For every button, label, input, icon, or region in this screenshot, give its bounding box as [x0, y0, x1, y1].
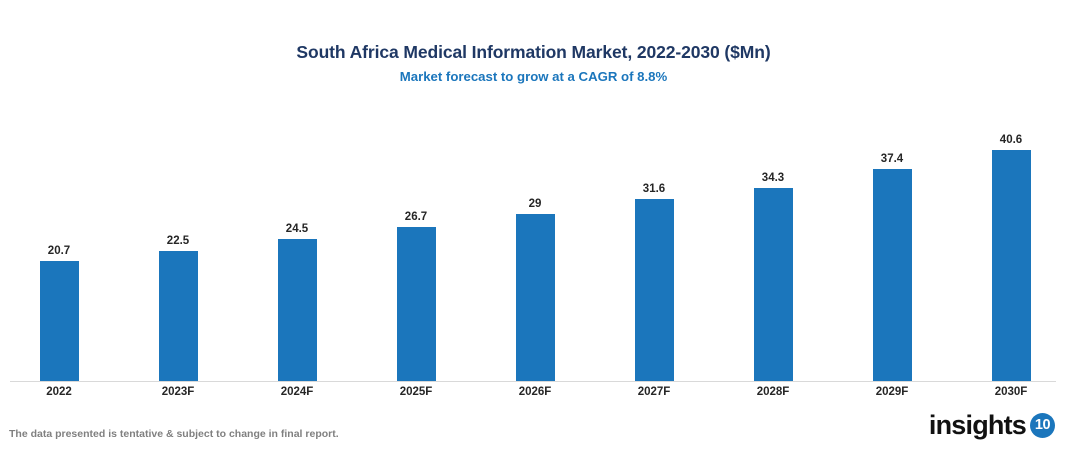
x-axis-tick-label: 2022: [9, 386, 109, 398]
bar-group: 29 2026F: [476, 0, 595, 454]
bar-value-label: 40.6: [971, 134, 1051, 146]
bar-value-label: 26.7: [376, 211, 456, 223]
bar-value-label: 24.5: [257, 223, 337, 235]
bar[interactable]: [397, 227, 436, 381]
x-axis-tick-label: 2026F: [485, 386, 585, 398]
x-axis-tick-label: 2024F: [247, 386, 347, 398]
bar[interactable]: [754, 188, 793, 381]
bar-value-label: 22.5: [138, 235, 218, 247]
chart-page: South Africa Medical Information Market,…: [0, 0, 1067, 454]
insights10-logo: insights 10: [929, 408, 1055, 442]
bar-group: 24.5 2024F: [238, 0, 357, 454]
x-axis-tick-label: 2027F: [604, 386, 704, 398]
bar-group: 22.5 2023F: [119, 0, 238, 454]
bar-chart-plot-area: 20.7 2022 22.5 2023F 24.5 2024F 26.7 202…: [0, 0, 1067, 454]
bar[interactable]: [516, 214, 555, 381]
x-axis-tick-label: 2025F: [366, 386, 466, 398]
logo-badge-icon: 10: [1030, 413, 1055, 438]
bar-group: 20.7 2022: [0, 0, 119, 454]
bar-group: 34.3 2028F: [714, 0, 833, 454]
x-axis-tick-label: 2028F: [723, 386, 823, 398]
disclaimer-text: The data presented is tentative & subjec…: [9, 428, 339, 440]
bar[interactable]: [635, 199, 674, 381]
bar[interactable]: [40, 261, 79, 381]
x-axis-tick-label: 2030F: [961, 386, 1061, 398]
x-axis-tick-label: 2029F: [842, 386, 942, 398]
bar-group: 40.6 2030F: [952, 0, 1067, 454]
bar-value-label: 29: [495, 198, 575, 210]
bar-value-label: 37.4: [852, 153, 932, 165]
logo-wordmark: insights: [929, 412, 1026, 439]
bar-value-label: 20.7: [19, 245, 99, 257]
bar[interactable]: [873, 169, 912, 381]
bar-group: 26.7 2025F: [357, 0, 476, 454]
x-axis-tick-label: 2023F: [128, 386, 228, 398]
bar[interactable]: [159, 251, 198, 381]
bar-value-label: 31.6: [614, 183, 694, 195]
bar[interactable]: [992, 150, 1031, 381]
bar-value-label: 34.3: [733, 172, 813, 184]
bar-group: 31.6 2027F: [595, 0, 714, 454]
bar[interactable]: [278, 239, 317, 381]
bar-group: 37.4 2029F: [833, 0, 952, 454]
